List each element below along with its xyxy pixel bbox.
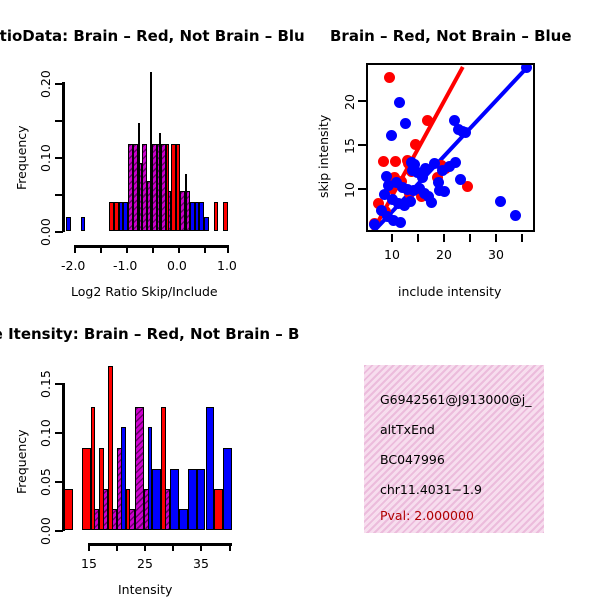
scatter-title: Brain – Red, Not Brain – Blue [330,27,572,45]
scatter-y-ticklabel-15: 15 [342,138,357,154]
gene-bar-red [108,366,112,530]
gene-bar-red [126,489,130,530]
ratio-x-tick-3 [152,245,155,253]
gene-y-ticklabel-1: 0.05 [38,468,53,496]
panel-gene-histogram: ne Itensity: Brain – Red, Not Brain – B … [0,310,300,600]
annotation-gene-id: G6942561@J913000@j_ [380,392,531,407]
panel-intensity-scatter: Brain – Red, Not Brain – Blue skip inten… [300,0,600,310]
scatter-point-blue [394,97,405,108]
scatter-y-tick-20 [358,100,366,103]
ratio-y-tick-2 [55,157,63,160]
gene-bar-blue [170,469,179,530]
ratio-x-tick-0 [74,245,77,253]
ratio-y-ticklabel-2: 0.10 [38,144,53,172]
gene-histogram-plot-area [64,360,235,530]
scatter-x-tick-25 [469,234,472,242]
gene-histogram-title: ne Itensity: Brain – Red, Not Brain – B [0,325,299,343]
ratio-bar-blue [123,202,128,231]
scatter-y-ticklabel-10: 10 [342,182,357,198]
ratio-y-ticklabel-4: 0.20 [38,70,53,98]
scatter-point-red [378,156,389,167]
ratio-histogram-plot-area [64,68,235,231]
ratio-bar-red [166,144,168,231]
ratio-y-tick-1 [55,194,63,197]
scatter-ylabel: skip intensity [316,115,331,198]
panel-annotation: G6942561@J913000@j_ altTxEnd BC047996 ch… [300,310,600,600]
gene-y-tick-0 [55,530,63,533]
scatter-point-blue [433,177,444,188]
scatter-x-tick-10 [391,234,394,242]
gene-bar-blue [206,407,215,530]
scatter-point-blue [510,210,521,221]
scatter-x-tick-20 [443,234,446,242]
ratio-bar-red [214,202,219,231]
scatter-point-blue [495,196,506,207]
panel-ratio-histogram: RatioData: Brain – Red, Not Brain – Blu … [0,0,300,310]
scatter-xlabel: include intensity [398,284,501,299]
annotation-accession: BC047996 [380,452,445,467]
scatter-x-ticklabel-20: 20 [436,247,452,262]
gene-y-ticklabel-0: 0.00 [38,517,53,545]
scatter-point-blue [439,186,450,197]
ratio-bar-red [176,144,181,231]
gene-bar-blue [223,448,232,530]
gene-y-ticklabel-2: 0.10 [38,419,53,447]
annotation-event-type: altTxEnd [380,422,435,437]
gene-bar-blue [188,469,197,530]
gene-bar-blue [179,509,188,530]
scatter-y-tick-10 [358,188,366,191]
ratio-bar-red [185,174,187,231]
scatter-x-tick-15 [417,234,420,242]
scatter-point-blue [417,172,428,183]
ratio-histogram-xlabel: Log2 Ratio Skip/Include [71,284,218,299]
gene-bar-red [91,407,95,530]
gene-x-tick-15 [88,543,91,551]
ratio-bar-blue [81,217,86,231]
annotation-pval: Pval: 2.000000 [380,508,474,523]
ratio-x-tick-2 [126,245,129,253]
ratio-bar-blue [150,72,152,231]
ratio-x-ticklabel-0: -2.0 [61,258,85,273]
ratio-y-ticklabel-0: 0.00 [38,218,53,246]
ratio-x-tick-6 [227,245,230,253]
gene-bar-blue [197,469,206,530]
gene-x-ticklabel-35: 35 [193,556,209,571]
scatter-y-ticklabel-20: 20 [342,94,357,110]
annotation-locus: chr11.4031−1.9 [380,482,482,497]
ratio-bar-red [138,123,140,231]
ratio-histogram-title: RatioData: Brain – Red, Not Brain – Blu [0,27,305,45]
ratio-x-ticklabel-6: 1.0 [217,258,237,273]
gene-x-tick-20 [116,543,119,551]
scatter-plot-area [366,63,535,232]
gene-x-tick-25 [144,543,147,551]
ratio-y-tick-0 [55,231,63,234]
ratio-y-tick-4 [55,83,63,86]
scatter-point-blue [400,118,411,129]
scatter-point-blue [460,127,471,138]
gene-bar-blue [152,469,161,530]
ratio-x-tick-4 [178,245,181,253]
scatter-point-red [384,72,395,83]
gene-bar-red [214,489,223,530]
gene-y-tick-1 [55,481,63,484]
ratio-bar-blue [159,133,161,231]
scatter-x-ticklabel-10: 10 [384,247,400,262]
ratio-bar-red [223,202,228,231]
ratio-x-tick-1 [100,245,103,253]
gene-y-tick-2 [55,432,63,435]
gene-histogram-xlabel: Intensity [118,582,172,597]
ratio-histogram-ylabel: Frequency [14,125,29,190]
ratio-bar-blue [204,217,209,231]
gene-bar-red [99,448,103,530]
scatter-y-tick-15 [358,144,366,147]
scatter-x-tick-30 [495,234,498,242]
gene-x-ticklabel-25: 25 [137,556,153,571]
scatter-point-blue [405,196,416,207]
ratio-bar-blue [66,217,71,231]
gene-x-tick-35 [200,543,203,551]
gene-bar-purple [135,407,144,530]
gene-histogram-x-axis [88,543,232,546]
gene-x-tick-40 [229,543,232,551]
ratio-y-tick-3 [55,120,63,123]
scatter-point-red [390,156,401,167]
ratio-x-ticklabel-4: 0.0 [167,258,187,273]
scatter-x-ticklabel-30: 30 [488,247,504,262]
scatter-point-blue [521,63,532,73]
gene-y-tick-3 [55,383,63,386]
scatter-point-blue [395,217,406,228]
gene-x-ticklabel-15: 15 [81,556,97,571]
gene-y-ticklabel-3: 0.15 [38,370,53,398]
gene-bar-red [82,448,91,530]
scatter-x-tick-35 [521,234,524,242]
scatter-point-blue [426,197,437,208]
ratio-x-ticklabel-2: -1.0 [113,258,137,273]
scatter-point-red [410,139,421,150]
gene-bar-red [161,407,165,530]
gene-x-tick-30 [172,543,175,551]
gene-bar-red [64,489,73,530]
gene-histogram-ylabel: Frequency [14,429,29,494]
ratio-x-tick-5 [204,245,207,253]
scatter-point-blue [444,161,455,172]
scatter-point-blue [386,130,397,141]
